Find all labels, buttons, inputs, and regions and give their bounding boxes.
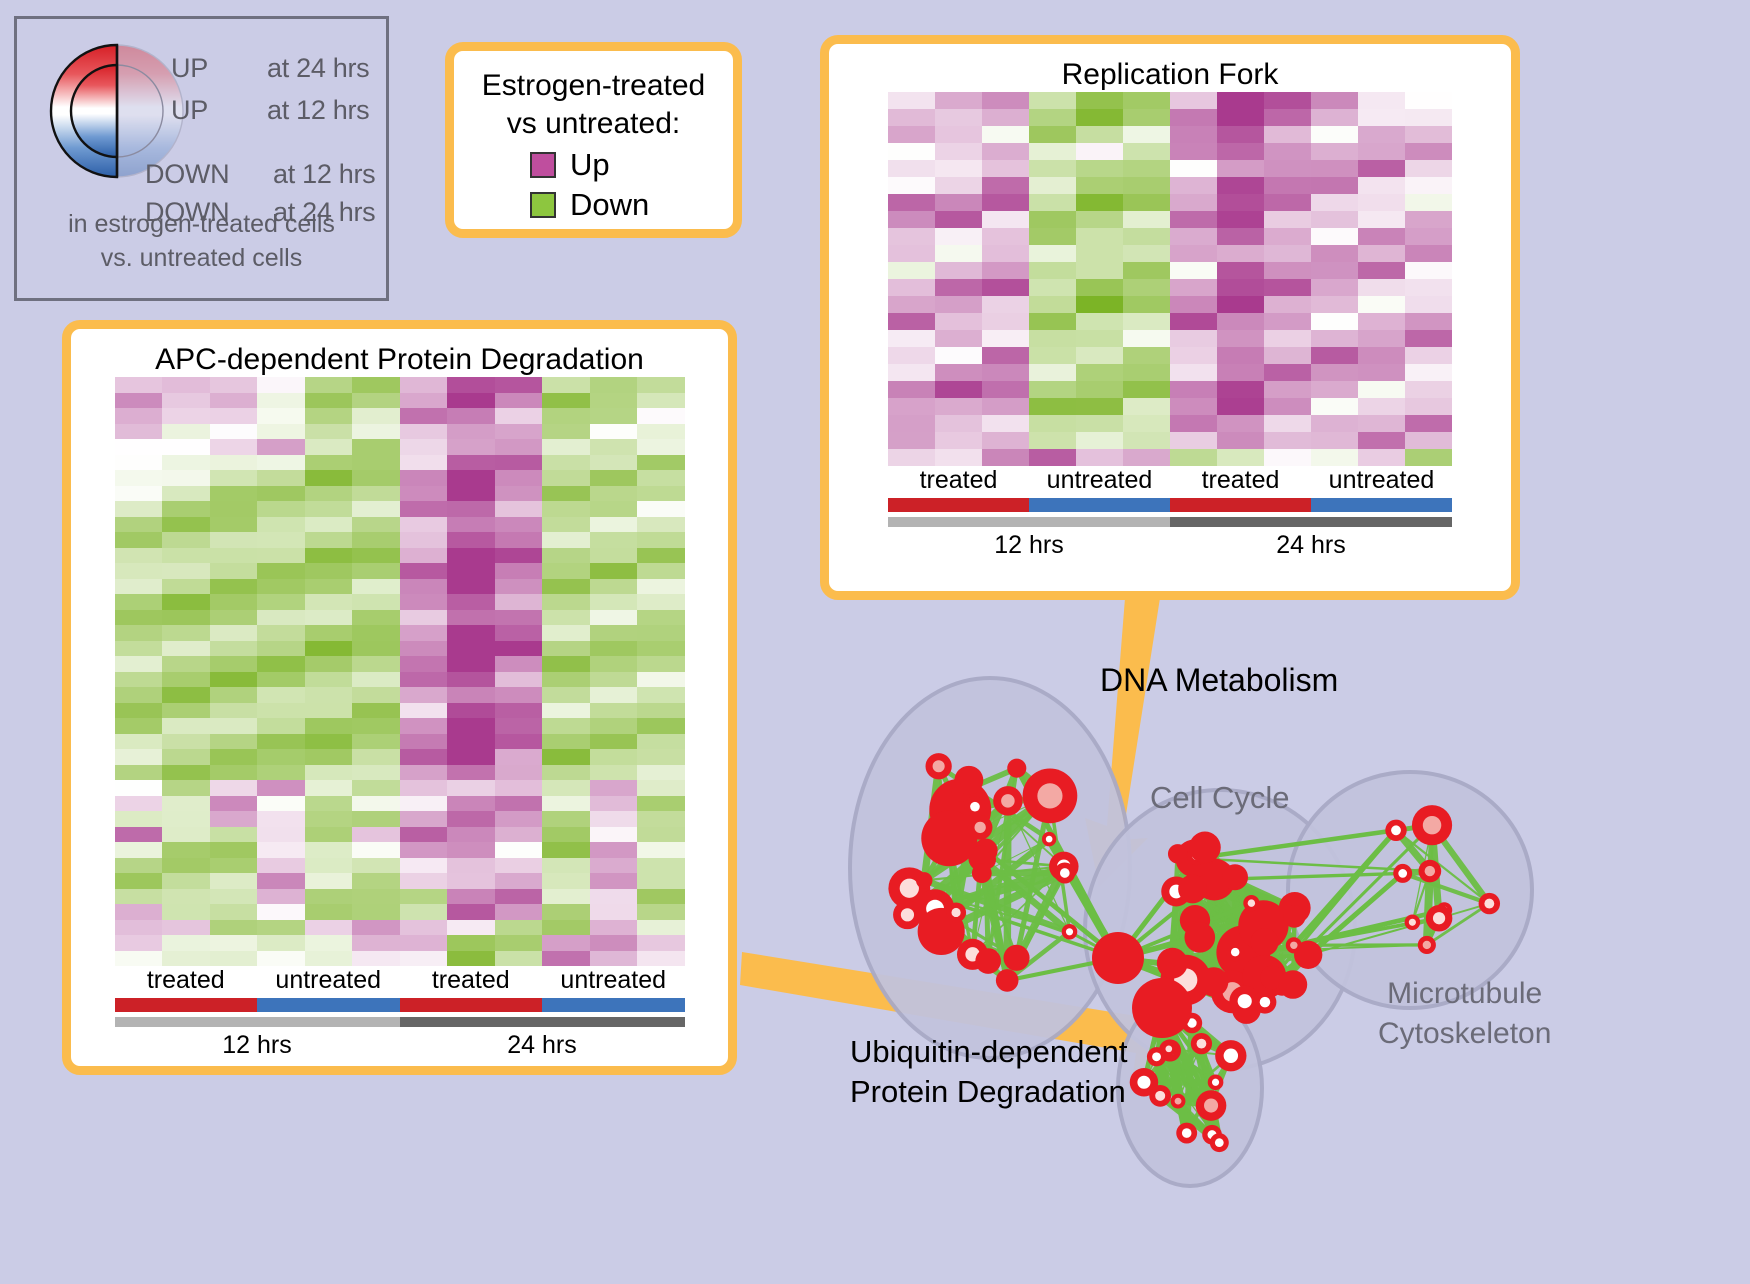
- heatmap-cell: [400, 920, 448, 936]
- heatmap-cell: [400, 734, 448, 750]
- heatmap-cell: [352, 563, 400, 579]
- time-labels-apc: 12 hrs 24 hrs: [115, 1031, 685, 1060]
- heatmap-cell: [888, 211, 935, 228]
- heatmap-cell: [162, 548, 210, 564]
- heatmap-cell: [1123, 160, 1170, 177]
- network-node-core: [1046, 836, 1053, 843]
- heatmap-cell: [447, 625, 495, 641]
- heatmap-cell: [115, 858, 163, 874]
- heatmap-cell: [1405, 109, 1452, 126]
- panel-replication-fork: Replication Fork treated untreated treat…: [820, 35, 1520, 600]
- heatmap-cell: [1029, 364, 1076, 381]
- wheel-time-1: at 12 hrs: [267, 95, 369, 126]
- heatmap-cell: [542, 548, 590, 564]
- heatmap-cell: [257, 718, 305, 734]
- network-node: [1178, 875, 1207, 904]
- heatmap-cell: [542, 935, 590, 951]
- heatmap-cell: [495, 672, 543, 688]
- heatmap-cell: [637, 532, 685, 548]
- heatmap-cell: [590, 889, 638, 905]
- heatmap-cell: [447, 486, 495, 502]
- heatmap-cell: [1123, 415, 1170, 432]
- heatmap-cell: [447, 780, 495, 796]
- heatmap-cell: [1029, 398, 1076, 415]
- heatmap-cell: [210, 610, 258, 626]
- heatmap-cell: [495, 889, 543, 905]
- heatmap-cell: [935, 432, 982, 449]
- heatmap-cell: [447, 842, 495, 858]
- heatmap-cell: [1264, 296, 1311, 313]
- heatmap-cell: [1170, 449, 1217, 466]
- heatmap-cell: [115, 610, 163, 626]
- heatmap-cell: [637, 734, 685, 750]
- network-node-core: [1391, 825, 1401, 835]
- heatmap-cell: [352, 470, 400, 486]
- time-bar-0: [115, 1017, 400, 1027]
- heatmap-cell: [495, 904, 543, 920]
- heatmap-cell: [1123, 313, 1170, 330]
- heatmap-cell: [162, 935, 210, 951]
- heatmap-cell: [210, 439, 258, 455]
- heatmap-cell: [1170, 160, 1217, 177]
- heatmap-cell: [637, 656, 685, 672]
- heatmap-cell: [542, 827, 590, 843]
- heatmap-cell: [400, 842, 448, 858]
- heatmap-cell: [1311, 177, 1358, 194]
- heatmap-cell: [257, 687, 305, 703]
- heatmap-cell: [1311, 296, 1358, 313]
- network-node-core: [1409, 919, 1416, 926]
- heatmap-cell: [400, 517, 448, 533]
- heatmap-cell: [542, 563, 590, 579]
- heatmap-cell: [210, 796, 258, 812]
- heatmap-cell: [1123, 177, 1170, 194]
- heatmap-cell: [447, 517, 495, 533]
- heatmap-cell: [400, 687, 448, 703]
- network-node-core: [970, 802, 980, 812]
- heatmap-cell: [352, 486, 400, 502]
- heatmap-cell: [1170, 330, 1217, 347]
- heatmap-cell: [590, 687, 638, 703]
- heatmap-cell: [115, 641, 163, 657]
- heatmap-cell: [935, 160, 982, 177]
- heatmap-cell: [542, 703, 590, 719]
- heatmap-cell: [935, 415, 982, 432]
- heatmap-cell: [210, 548, 258, 564]
- heatmap-cell: [115, 827, 163, 843]
- heatmap-cell: [1405, 279, 1452, 296]
- heatmap-cell: [1358, 211, 1405, 228]
- heatmap-cell: [1217, 194, 1264, 211]
- heatmap-cell: [1217, 109, 1264, 126]
- heatmap-cell: [305, 672, 353, 688]
- heatmap-cell: [1170, 245, 1217, 262]
- heatmap-cell: [1264, 194, 1311, 211]
- heatmap-cell: [352, 796, 400, 812]
- heatmap-cell: [162, 377, 210, 393]
- heatmap-cell: [162, 811, 210, 827]
- heatmap-cell: [982, 449, 1029, 466]
- heatmap-cell: [447, 889, 495, 905]
- heatmap-cell: [305, 594, 353, 610]
- heatmap-cell: [888, 347, 935, 364]
- heatmap-cell: [637, 517, 685, 533]
- heatmap-cell: [888, 92, 935, 109]
- heatmap-cell: [1170, 381, 1217, 398]
- group-labels-apc: treated untreated treated untreated: [115, 966, 685, 995]
- heatmap-cell: [1123, 449, 1170, 466]
- heatmap-cell: [1217, 313, 1264, 330]
- heatmap-cell: [637, 718, 685, 734]
- heatmap-cell: [590, 873, 638, 889]
- up-label: Up: [570, 147, 610, 183]
- heatmap-cell: [115, 718, 163, 734]
- network-node: [1189, 832, 1221, 864]
- heatmap-cell: [1358, 449, 1405, 466]
- heatmap-cell: [352, 904, 400, 920]
- heatmap-cell: [637, 811, 685, 827]
- heatmap-cell: [1029, 296, 1076, 313]
- wheel-time-0: at 24 hrs: [267, 53, 369, 84]
- heatmap-cell: [1217, 364, 1264, 381]
- heatmap-cell: [257, 408, 305, 424]
- heatmap-cell: [352, 734, 400, 750]
- cluster-label-cell-cycle: Cell Cycle: [1150, 778, 1290, 818]
- cluster-microtubule: [1288, 772, 1532, 1008]
- heatmap-cell: [210, 594, 258, 610]
- heatmap-cell: [935, 126, 982, 143]
- heatmap-cell: [1170, 415, 1217, 432]
- updown-title-line1: Estrogen-treated: [454, 67, 733, 105]
- heatmap-cell: [352, 827, 400, 843]
- heatmap-cell: [1405, 177, 1452, 194]
- heatmap-cell: [637, 765, 685, 781]
- heatmap-cell: [1170, 92, 1217, 109]
- heatmap-cell: [447, 455, 495, 471]
- heatmap-cell: [495, 579, 543, 595]
- wheel-direction-0: UP: [171, 53, 208, 84]
- heatmap-cell: [210, 672, 258, 688]
- heatmap-cell: [400, 486, 448, 502]
- heatmap-cell: [1264, 109, 1311, 126]
- heatmap-cell: [305, 780, 353, 796]
- heatmap-cell: [447, 687, 495, 703]
- heatmap-cell: [1123, 228, 1170, 245]
- heatmap-cell: [400, 656, 448, 672]
- heatmap-cell: [982, 211, 1029, 228]
- heatmap-cell: [888, 177, 935, 194]
- heatmap-cell: [542, 873, 590, 889]
- heatmap-cell: [162, 594, 210, 610]
- heatmap-cell: [1123, 126, 1170, 143]
- heatmap-cell: [495, 842, 543, 858]
- heatmap-cell: [1217, 92, 1264, 109]
- heatmap-cell: [162, 656, 210, 672]
- group-bar-3: [1311, 498, 1452, 512]
- heatmap-cell: [162, 517, 210, 533]
- network-node: [1279, 970, 1307, 998]
- heatmap-cell: [352, 641, 400, 657]
- network-node: [972, 863, 992, 883]
- network-node-core: [1231, 948, 1239, 956]
- heatmap-cell: [1076, 313, 1123, 330]
- network-node: [1199, 967, 1228, 996]
- heatmap-cell: [637, 439, 685, 455]
- heatmap-cell: [210, 935, 258, 951]
- heatmap-cell: [1123, 194, 1170, 211]
- heatmap-cell: [1170, 296, 1217, 313]
- heatmap-cell: [115, 951, 163, 967]
- heatmap-cell: [1264, 126, 1311, 143]
- heatmap-cell: [1264, 228, 1311, 245]
- heatmap-cell: [162, 501, 210, 517]
- heatmap-cell: [1029, 313, 1076, 330]
- heatmap-cell: [542, 641, 590, 657]
- heatmap-cell: [1405, 449, 1452, 466]
- heatmap-cell: [935, 92, 982, 109]
- heatmap-apc-degradation: [115, 377, 685, 966]
- heatmap-cell: [1264, 143, 1311, 160]
- heatmap-cell: [542, 920, 590, 936]
- heatmap-cell: [888, 313, 935, 330]
- heatmap-cell: [542, 377, 590, 393]
- heatmap-cell: [888, 449, 935, 466]
- legend-footer-line1: in estrogen-treated cells: [17, 207, 386, 241]
- heatmap-cell: [257, 470, 305, 486]
- heatmap-cell: [637, 842, 685, 858]
- heatmap-cell: [1311, 194, 1358, 211]
- heatmap-cell: [162, 486, 210, 502]
- heatmap-cell: [210, 625, 258, 641]
- wheel-direction-1: UP: [171, 95, 208, 126]
- heatmap-cell: [542, 610, 590, 626]
- heatmap-cell: [1358, 296, 1405, 313]
- network-node: [1092, 932, 1144, 984]
- heatmap-cell: [542, 501, 590, 517]
- heatmap-cell: [495, 532, 543, 548]
- heatmap-cell: [495, 517, 543, 533]
- heatmap-cell: [305, 703, 353, 719]
- heatmap-cell: [210, 811, 258, 827]
- heatmap-cell: [400, 765, 448, 781]
- heatmap-cell: [637, 594, 685, 610]
- heatmap-cell: [637, 889, 685, 905]
- heatmap-cell: [495, 377, 543, 393]
- heatmap-cell: [257, 393, 305, 409]
- heatmap-cell: [1076, 432, 1123, 449]
- group-label-3: untreated: [542, 966, 685, 995]
- heatmap-cell: [1217, 347, 1264, 364]
- heatmap-cell: [1076, 279, 1123, 296]
- heatmap-cell: [1170, 109, 1217, 126]
- heatmap-cell: [305, 455, 353, 471]
- heatmap-cell: [1170, 262, 1217, 279]
- heatmap-cell: [257, 920, 305, 936]
- network-node-core: [1423, 941, 1431, 949]
- heatmap-cell: [447, 610, 495, 626]
- heatmap-cell: [1170, 364, 1217, 381]
- heatmap-cell: [542, 734, 590, 750]
- heatmap-cell: [115, 408, 163, 424]
- heatmap-cell: [210, 904, 258, 920]
- heatmap-cell: [305, 393, 353, 409]
- time-colorbar-apc: [115, 1017, 685, 1027]
- heatmap-cell: [1311, 449, 1358, 466]
- group-label-1: untreated: [1029, 466, 1170, 495]
- cluster-label-ubiquitin-degradation: Ubiquitin-dependent Protein Degradation: [850, 1032, 1128, 1112]
- heatmap-cell: [888, 194, 935, 211]
- heatmap-cell: [162, 951, 210, 967]
- heatmap-cell: [257, 563, 305, 579]
- heatmap-cell: [590, 377, 638, 393]
- heatmap-cell: [1029, 449, 1076, 466]
- axis-apc-degradation: treated untreated treated untreated 12 h…: [115, 966, 685, 1060]
- heatmap-cell: [935, 194, 982, 211]
- heatmap-cell: [935, 381, 982, 398]
- network-node-core: [1398, 869, 1407, 878]
- heatmap-cell: [1264, 347, 1311, 364]
- heatmap-cell: [400, 935, 448, 951]
- heatmap-cell: [888, 330, 935, 347]
- heatmap-cell: [257, 873, 305, 889]
- heatmap-cell: [210, 718, 258, 734]
- heatmap-cell: [400, 377, 448, 393]
- heatmap-cell: [115, 486, 163, 502]
- heatmap-cell: [1076, 92, 1123, 109]
- heatmap-cell: [982, 296, 1029, 313]
- heatmap-cell: [257, 439, 305, 455]
- heatmap-cell: [210, 470, 258, 486]
- heatmap-cell: [637, 501, 685, 517]
- heatmap-cell: [1358, 364, 1405, 381]
- heatmap-cell: [888, 228, 935, 245]
- heatmap-cell: [542, 672, 590, 688]
- heatmap-cell: [1405, 92, 1452, 109]
- heatmap-cell: [495, 548, 543, 564]
- heatmap-cell: [888, 364, 935, 381]
- heatmap-cell: [1123, 92, 1170, 109]
- heatmap-cell: [210, 951, 258, 967]
- heatmap-cell: [400, 641, 448, 657]
- heatmap-cell: [888, 160, 935, 177]
- heatmap-cell: [115, 377, 163, 393]
- heatmap-cell: [888, 398, 935, 415]
- heatmap-cell: [637, 455, 685, 471]
- heatmap-cell: [1217, 262, 1264, 279]
- heatmap-cell: [305, 858, 353, 874]
- heatmap-cell: [590, 408, 638, 424]
- group-colorbar-apc: [115, 998, 685, 1012]
- cluster-label-dna-metabolism: DNA Metabolism: [1100, 660, 1338, 700]
- heatmap-cell: [352, 951, 400, 967]
- updown-legend-title: Estrogen-treated vs untreated:: [454, 67, 733, 143]
- heatmap-cell: [637, 749, 685, 765]
- heatmap-cell: [495, 780, 543, 796]
- heatmap-cell: [1264, 177, 1311, 194]
- heatmap-cell: [447, 548, 495, 564]
- heatmap-cell: [305, 579, 353, 595]
- heatmap-cell: [1358, 194, 1405, 211]
- heatmap-cell: [115, 532, 163, 548]
- heatmap-cell: [495, 439, 543, 455]
- heatmap-cell: [400, 672, 448, 688]
- heatmap-cell: [257, 765, 305, 781]
- panel-apc-degradation: APC-dependent Protein Degradation treate…: [62, 320, 737, 1075]
- heatmap-cell: [1405, 398, 1452, 415]
- heatmap-cell: [888, 126, 935, 143]
- heatmap-cell: [495, 656, 543, 672]
- group-bar-3: [542, 998, 685, 1012]
- heatmap-cell: [590, 904, 638, 920]
- heatmap-cell: [447, 858, 495, 874]
- heatmap-cell: [1123, 347, 1170, 364]
- heatmap-cell: [935, 211, 982, 228]
- heatmap-cell: [400, 811, 448, 827]
- heatmap-cell: [1029, 126, 1076, 143]
- heatmap-cell: [888, 245, 935, 262]
- heatmap-cell: [935, 279, 982, 296]
- heatmap-cell: [210, 687, 258, 703]
- group-bar-0: [888, 498, 1029, 512]
- heatmap-cell: [162, 625, 210, 641]
- heatmap-cell: [447, 935, 495, 951]
- heatmap-cell: [257, 811, 305, 827]
- heatmap-cell: [115, 439, 163, 455]
- heatmap-cell: [210, 765, 258, 781]
- heatmap-cell: [1029, 415, 1076, 432]
- heatmap-cell: [305, 486, 353, 502]
- heatmap-cell: [257, 517, 305, 533]
- heatmap-cell: [982, 279, 1029, 296]
- heatmap-cell: [162, 672, 210, 688]
- heatmap-cell: [495, 687, 543, 703]
- heatmap-cell: [162, 780, 210, 796]
- heatmap-cell: [400, 563, 448, 579]
- heatmap-cell: [210, 656, 258, 672]
- heatmap-cell: [1123, 211, 1170, 228]
- axis-replication-fork: treated untreated treated untreated 12 h…: [888, 466, 1452, 560]
- heatmap-cell: [447, 501, 495, 517]
- heatmap-cell: [210, 920, 258, 936]
- heatmap-cell: [400, 873, 448, 889]
- network-node-core: [1290, 942, 1297, 949]
- heatmap-cell: [1405, 296, 1452, 313]
- network-node-core: [1260, 997, 1271, 1008]
- network-node-core: [1165, 1045, 1172, 1052]
- heatmap-cell: [637, 579, 685, 595]
- heatmap-cell: [495, 486, 543, 502]
- heatmap-cell: [1405, 262, 1452, 279]
- heatmap-cell: [257, 935, 305, 951]
- heatmap-cell: [935, 177, 982, 194]
- network-node-core: [901, 908, 914, 921]
- heatmap-cell: [400, 439, 448, 455]
- heatmap-cell: [115, 703, 163, 719]
- heatmap-cell: [447, 532, 495, 548]
- network-node-core: [1423, 816, 1441, 834]
- heatmap-cell: [1264, 279, 1311, 296]
- heatmap-cell: [352, 610, 400, 626]
- time-colorbar-replication: [888, 517, 1452, 527]
- heatmap-cell: [495, 594, 543, 610]
- heatmap-cell: [447, 408, 495, 424]
- heatmap-cell: [305, 501, 353, 517]
- colorwheel-legend-box: UP at 24 hrs UP at 12 hrs DOWN at 12 hrs…: [14, 16, 389, 301]
- heatmap-cell: [495, 470, 543, 486]
- heatmap-cell: [542, 594, 590, 610]
- heatmap-cell: [1029, 330, 1076, 347]
- cluster-label-microtubule-cytoskeleton: Microtubule Cytoskeleton: [1378, 974, 1551, 1054]
